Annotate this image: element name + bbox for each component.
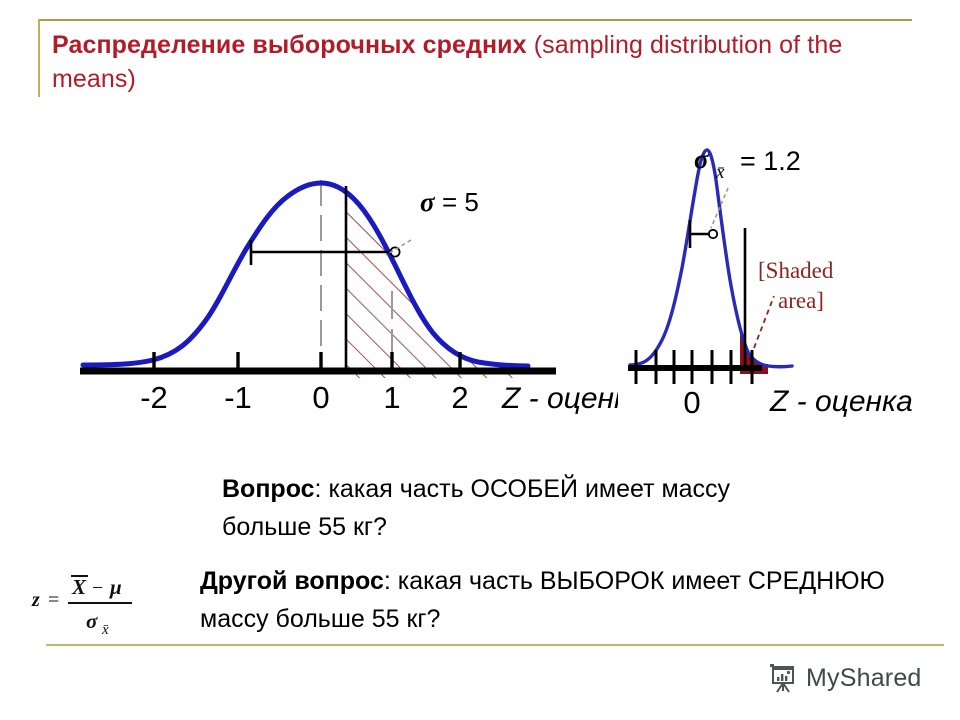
tick-label-zero: 0 xyxy=(683,385,700,418)
shaded-area-line-2: area] xyxy=(778,288,824,313)
title-rule-top xyxy=(38,19,912,21)
sd-error-bar xyxy=(690,220,717,248)
x-tick-labels: -2 -1 0 1 2 xyxy=(140,380,468,415)
question-samples: Другой вопрос: какая часть ВЫБОРОК имеет… xyxy=(200,562,890,638)
page-title: Распределение выборочных средних (sampli… xyxy=(52,28,924,96)
formula-sigma-subscript: x̄ xyxy=(101,622,109,638)
title-rule-left xyxy=(38,19,40,97)
footer-rule xyxy=(46,644,944,646)
tick-label-4: 2 xyxy=(451,380,468,415)
tick-label-3: 1 xyxy=(383,380,400,415)
myshared-logo-text: MyShared xyxy=(806,664,922,693)
page-title-russian: Распределение выборочных средних xyxy=(52,31,527,59)
x-axis-title-right: Z - оценка xyxy=(769,385,913,418)
sigma-symbol-left: σ xyxy=(420,187,436,217)
tick-label-0: -2 xyxy=(140,380,168,415)
sigma-value-right: = 1.2 xyxy=(740,146,801,176)
slide-canvas: Распределение выборочных средних (sampli… xyxy=(0,0,960,720)
formula-sigma: σ xyxy=(86,609,98,633)
question-individuals: Вопрос: какая часть ОСОБЕЙ имеет массу б… xyxy=(222,470,822,546)
shaded-area-leader-line xyxy=(754,296,774,348)
formula-z: z xyxy=(31,589,40,611)
sigma-subscript-right: x̄ xyxy=(715,162,725,183)
chart-sampling-distribution: σ x̄ = 1.2 [Shaded area] 0 Z - оценка xyxy=(618,128,960,418)
tick-label-1: -1 xyxy=(224,380,252,415)
z-score-formula: z = X − μ σ x̄ xyxy=(24,556,196,642)
chart-population-distribution: σ = 5 -2 -1 0 1 2 Z - оценка xyxy=(58,128,618,418)
sigma-annotation-right: σ x̄ = 1.2 xyxy=(694,144,801,183)
question-1-lead: Вопрос xyxy=(222,475,315,503)
tick-label-2: 0 xyxy=(312,380,329,415)
formula-equals: = xyxy=(48,589,59,611)
sigma-leader-line xyxy=(386,240,411,255)
question-2-lead: Другой вопрос xyxy=(200,567,384,595)
presentation-board-icon xyxy=(768,662,798,694)
sigma-annotation-left: σ = 5 xyxy=(420,187,479,217)
formula-mu: μ xyxy=(109,575,122,599)
formula-xbar: X xyxy=(71,575,87,599)
sigma-symbol-right: σ xyxy=(694,144,710,174)
shaded-area-line-1: [Shaded xyxy=(758,258,834,283)
formula-minus: − xyxy=(92,577,103,599)
x-axis-title-left: Z - оценка xyxy=(501,382,618,415)
shaded-area-callout: [Shaded area] xyxy=(758,258,834,313)
sigma-value-left: = 5 xyxy=(442,187,479,217)
myshared-logo[interactable]: MyShared xyxy=(768,662,922,694)
